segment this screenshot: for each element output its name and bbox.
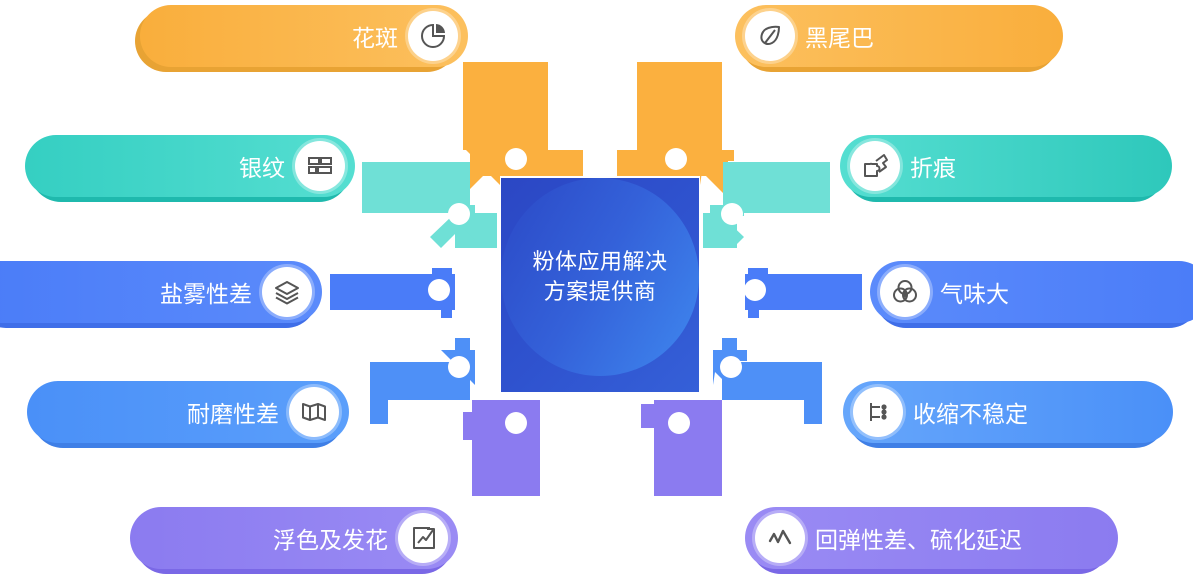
- pill-label-hui-tan-xing-cha: 回弹性差、硫化延迟: [815, 521, 1022, 555]
- pill-yin-wen[interactable]: 银纹: [25, 135, 355, 197]
- connector-orange-left-arrow: [455, 150, 500, 193]
- center-node-label: 粉体应用解决 方案提供商: [532, 247, 667, 307]
- connector-dot-purple-right: [668, 412, 690, 434]
- connector-dot-orange-left: [505, 148, 527, 170]
- connector-lightblue-left: [370, 338, 470, 424]
- pill-label-nai-mo-xing-cha: 耐磨性差: [187, 395, 279, 429]
- pill-label-qi-wei-da: 气味大: [940, 275, 1009, 309]
- pill-label-yin-wen: 银纹: [239, 149, 285, 183]
- connector-dot-lightblue-right: [720, 356, 742, 378]
- connector-dot-purple-left: [505, 412, 527, 434]
- pill-label-fu-se-ji-fa-hua: 浮色及发花: [273, 521, 388, 555]
- line-chart-icon: [755, 513, 805, 563]
- diagram-canvas: 粉体应用解决 方案提供商 花斑 银纹 盐雾性差: [0, 0, 1193, 577]
- pill-qi-wei-da[interactable]: 气味大: [870, 261, 1193, 323]
- connector-purple-right: [654, 400, 722, 496]
- puzzle-piece-icon: [850, 141, 900, 191]
- connector-lightblue-left-arrow: [430, 350, 475, 393]
- leaf-icon: [745, 11, 795, 61]
- connector-dot-teal-right: [721, 203, 743, 225]
- trend-up-box-icon: [398, 513, 448, 563]
- brick-wall-icon: [295, 141, 345, 191]
- pill-nai-mo-xing-cha[interactable]: 耐磨性差: [27, 381, 349, 443]
- pill-label-hei-wei-ba: 黑尾巴: [805, 19, 874, 53]
- connector-orange-right: [617, 62, 728, 176]
- connector-dot-orange-right: [665, 148, 687, 170]
- connector-teal-left: [362, 162, 497, 248]
- connector-teal-right: [703, 162, 830, 248]
- layers-icon: [262, 267, 312, 317]
- pill-hua-ban[interactable]: 花斑: [140, 5, 468, 67]
- open-book-icon: [289, 387, 339, 437]
- pie-chart-icon: [408, 11, 458, 61]
- connector-blue-left: [330, 274, 455, 310]
- connector-teal-right-arrow: [710, 205, 744, 248]
- pill-zhe-hen[interactable]: 折痕: [840, 135, 1172, 197]
- connector-orange-right-arrow: [700, 150, 734, 193]
- pill-yan-wu-xing-cha[interactable]: 盐雾性差: [0, 261, 322, 323]
- pill-label-hua-ban: 花斑: [352, 19, 398, 53]
- pill-hui-tan-xing-cha[interactable]: 回弹性差、硫化延迟: [745, 507, 1118, 569]
- connector-purple-right-arrow: [641, 404, 675, 440]
- pill-label-yan-wu-xing-cha: 盐雾性差: [160, 275, 252, 309]
- connector-blue-left-arrow: [432, 268, 452, 318]
- connector-dot-teal-left: [448, 203, 470, 225]
- pill-hei-wei-ba[interactable]: 黑尾巴: [735, 5, 1063, 67]
- pill-label-zhe-hen: 折痕: [910, 149, 956, 183]
- pill-shou-suo-bu-wen-ding[interactable]: 收缩不稳定: [843, 381, 1173, 443]
- connector-lightblue-right-arrow: [713, 350, 747, 393]
- connector-dot-lightblue-left: [448, 356, 470, 378]
- center-node-circle[interactable]: 粉体应用解决 方案提供商: [501, 178, 699, 376]
- connector-blue-right: [745, 274, 862, 310]
- connector-purple-left-arrow: [463, 412, 497, 440]
- connector-lightblue-right: [722, 338, 822, 424]
- connector-dot-blue-left: [428, 279, 450, 301]
- connector-purple-left: [472, 400, 540, 496]
- connector-dot-blue-right: [744, 279, 766, 301]
- connector-blue-right-arrow: [748, 268, 768, 318]
- recycle-circles-icon: [880, 267, 930, 317]
- pill-label-shou-suo-bu-wen-ding: 收缩不稳定: [913, 395, 1028, 429]
- sitemap-icon: [853, 387, 903, 437]
- connector-orange-left: [463, 62, 583, 176]
- connector-teal-left-arrow: [430, 205, 475, 248]
- pill-fu-se-ji-fa-hua[interactable]: 浮色及发花: [130, 507, 458, 569]
